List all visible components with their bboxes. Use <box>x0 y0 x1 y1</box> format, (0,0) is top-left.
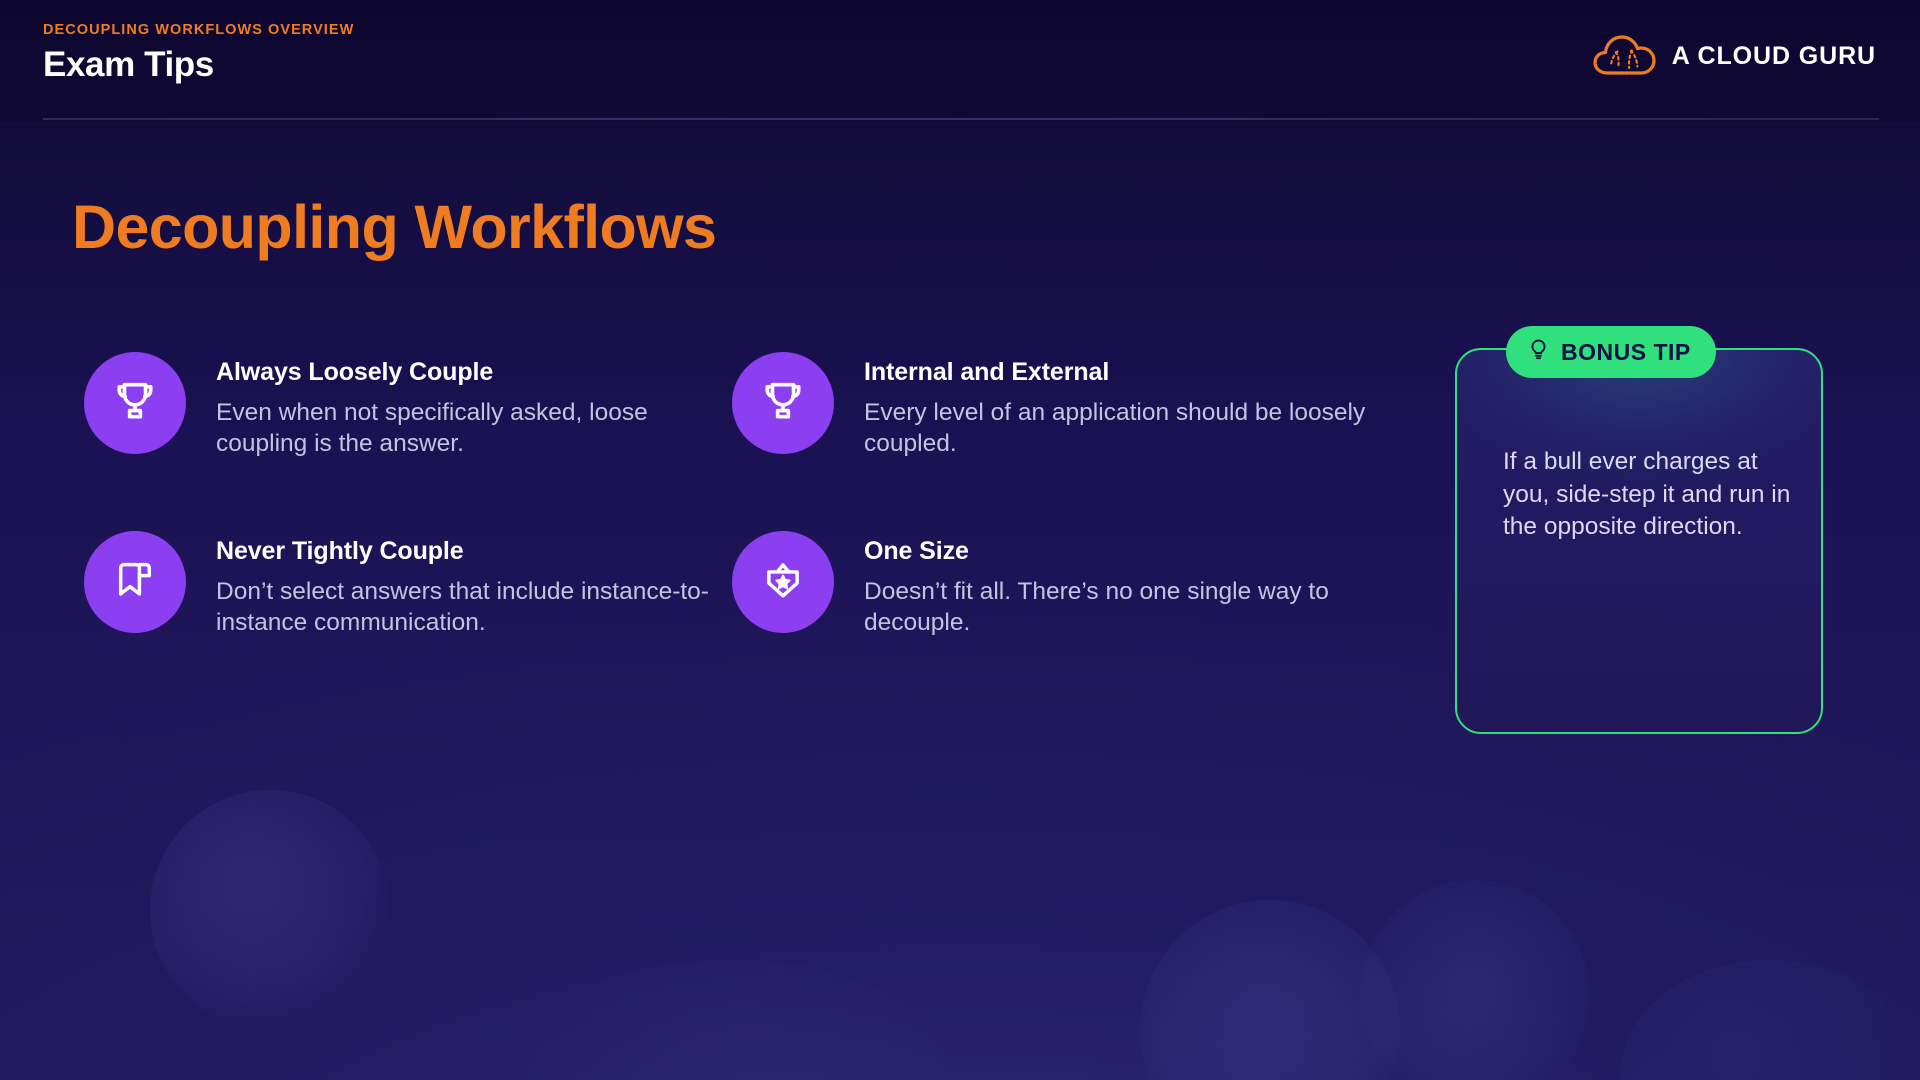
background-blob <box>1360 880 1590 1080</box>
header-eyebrow: DECOUPLING WORKFLOWS OVERVIEW <box>43 22 354 38</box>
lightbulb-icon <box>1527 338 1550 366</box>
feature-title: Always Loosely Couple <box>216 357 732 388</box>
bonus-tip-text: If a bull ever charges at you, side-step… <box>1503 446 1799 544</box>
background-blob <box>150 790 390 1030</box>
feature-item: Never Tightly Couple Don’t select answer… <box>84 531 732 638</box>
slide: DECOUPLING WORKFLOWS OVERVIEW Exam Tips … <box>0 0 1920 1080</box>
header-title: Exam Tips <box>43 45 354 85</box>
feature-item: Always Loosely Couple Even when not spec… <box>84 352 732 459</box>
feature-text: One Size Doesn’t fit all. There’s no one… <box>834 531 1380 638</box>
background-blob <box>1140 900 1400 1080</box>
brand-name: A CLOUD GURU <box>1672 42 1876 71</box>
feature-grid: Always Loosely Couple Even when not spec… <box>84 352 1380 638</box>
feature-icon-badge <box>84 352 186 454</box>
feature-text: Always Loosely Couple Even when not spec… <box>186 352 732 459</box>
feature-text: Internal and External Every level of an … <box>834 352 1380 459</box>
page-title: Decoupling Workflows <box>72 192 716 262</box>
feature-text: Never Tightly Couple Don’t select answer… <box>186 531 732 638</box>
header-titles: DECOUPLING WORKFLOWS OVERVIEW Exam Tips <box>43 22 354 85</box>
feature-description: Every level of an application should be … <box>864 398 1380 459</box>
shield-star-icon <box>761 558 805 607</box>
trophy-icon <box>760 378 806 429</box>
trophy-icon <box>112 378 158 429</box>
feature-title: Internal and External <box>864 357 1380 388</box>
feature-icon-badge <box>732 352 834 454</box>
bonus-tip: If a bull ever charges at you, side-step… <box>1455 348 1823 734</box>
header-divider <box>43 118 1879 120</box>
feature-title: Never Tightly Couple <box>216 536 732 567</box>
background-blob <box>520 960 940 1080</box>
feature-icon-badge <box>84 531 186 633</box>
feature-icon-badge <box>732 531 834 633</box>
slide-header: DECOUPLING WORKFLOWS OVERVIEW Exam Tips … <box>0 0 1920 122</box>
background-blob <box>1620 960 1920 1080</box>
feature-description: Doesn’t fit all. There’s no one single w… <box>864 577 1380 638</box>
feature-item: Internal and External Every level of an … <box>732 352 1380 459</box>
bookmark-icon <box>113 558 157 607</box>
brand-logo: A CLOUD GURU <box>1592 32 1876 81</box>
bonus-tip-card: If a bull ever charges at you, side-step… <box>1455 348 1823 734</box>
feature-item: One Size Doesn’t fit all. There’s no one… <box>732 531 1380 638</box>
bonus-tip-badge-label: BONUS TIP <box>1561 339 1691 366</box>
feature-description: Don’t select answers that include instan… <box>216 577 732 638</box>
feature-description: Even when not specifically asked, loose … <box>216 398 732 459</box>
cloud-icon <box>1592 32 1658 81</box>
feature-title: One Size <box>864 536 1380 567</box>
bonus-tip-badge: BONUS TIP <box>1506 326 1716 378</box>
